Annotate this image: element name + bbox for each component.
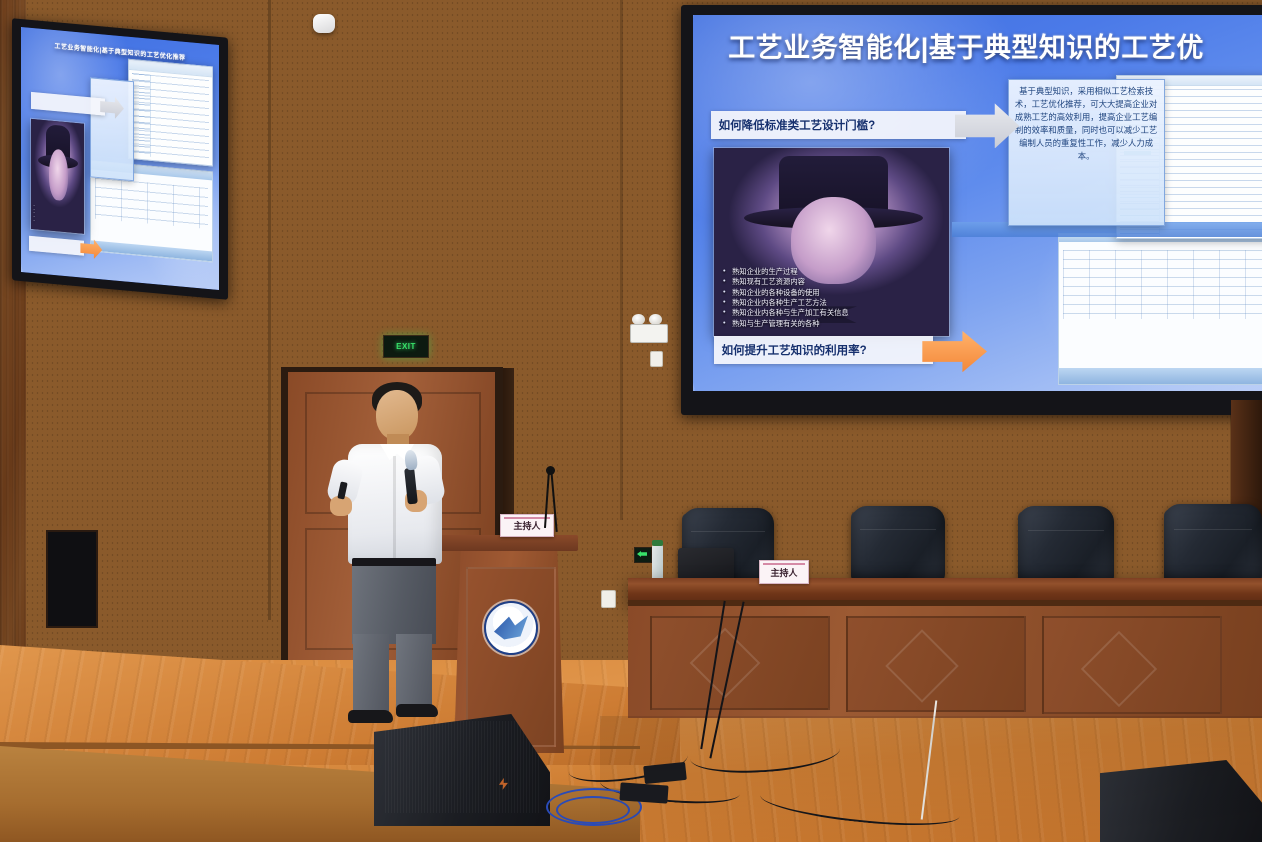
- presenter-shirt-placket: [393, 456, 396, 560]
- wall-outlet-upper: [650, 351, 663, 367]
- bullet-item: 熟知企业内各种生产工艺方法: [723, 298, 849, 308]
- speaker-grille: [385, 721, 540, 813]
- floor-shadow: [600, 716, 1262, 842]
- wall-seam-1: [268, 0, 271, 620]
- side-bullets: [34, 205, 44, 224]
- chair-crease: [860, 529, 935, 530]
- bottle-cap: [652, 540, 663, 546]
- nameplate-accent-line: [763, 563, 805, 565]
- institution-emblem-icon: [484, 601, 538, 655]
- bullet-item: 熟知企业的各种设备的使用: [723, 288, 849, 298]
- bullet-item: 熟知与生产管理有关的各种: [723, 319, 849, 329]
- presenter: [320, 382, 480, 722]
- presenter-head: [376, 390, 418, 440]
- main-slide: 工艺业务智能化|基于典型知识的工艺优 如何降低标准类工艺设计门槛? 熟知企业的生…: [693, 15, 1262, 391]
- laptop[interactable]: [678, 548, 734, 580]
- bullet-item: 熟知企业内各种与生产加工有关信息: [723, 308, 849, 318]
- exit-sign-label: EXIT: [396, 342, 416, 351]
- main-appshot-2: [1058, 233, 1262, 385]
- chair-2: [851, 506, 945, 584]
- main-display-screen[interactable]: 工艺业务智能化|基于典型知识的工艺优 如何降低标准类工艺设计门槛? 熟知企业的生…: [693, 15, 1262, 391]
- presenter-shoe-right: [396, 704, 438, 717]
- side-display-screen[interactable]: 工艺业务智能化|基于典型知识的工艺优化推荐: [21, 27, 219, 290]
- side-slide: 工艺业务智能化|基于典型知识的工艺优化推荐: [21, 27, 219, 290]
- chair-crease: [1028, 530, 1105, 531]
- presenter-shoe-left: [348, 710, 393, 723]
- side-portrait: [31, 119, 84, 234]
- chair-3: [1018, 506, 1114, 586]
- table-nameplate: 主持人: [759, 560, 809, 584]
- water-bottle: [652, 545, 663, 582]
- chair-crease: [691, 531, 765, 532]
- presenter-leg-left: [353, 634, 389, 716]
- chair-4: [1164, 504, 1262, 586]
- emergency-light-body: [630, 324, 668, 343]
- side-appshot-1: [128, 59, 213, 167]
- side-info-box: [90, 77, 134, 181]
- table-nameplate-label: 主持人: [770, 566, 797, 579]
- wall-vent-panel: [46, 530, 98, 628]
- smoke-detector-icon: [313, 14, 335, 33]
- emergency-light: [630, 314, 666, 342]
- chair-crease: [1174, 529, 1252, 530]
- chair-back: [1018, 506, 1114, 586]
- side-display-bezel: 工艺业务智能化|基于典型知识的工艺优化推荐: [12, 18, 228, 300]
- main-callout-bottom: 如何提升工艺知识的利用率?: [714, 336, 934, 364]
- main-portrait-photo: 熟知企业的生产过程 熟知现有工艺资源内容 熟知企业的各种设备的使用 熟知企业内各…: [714, 148, 949, 336]
- podium-nameplate-label: 主持人: [513, 519, 540, 532]
- auditorium-photo: 工艺业务智能化|基于典型知识的工艺优化推荐: [0, 0, 1262, 842]
- bullet-item: 熟知现有工艺资源内容: [723, 277, 849, 287]
- right-wall-gap: [1231, 400, 1262, 520]
- main-info-box: 基于典型知识，采用相似工艺检索技术，工艺优化推荐，可大大提高企业对成熟工艺的高效…: [1008, 79, 1165, 226]
- nameplate-accent-line: [504, 517, 550, 519]
- main-display-bezel: 工艺业务智能化|基于典型知识的工艺优 如何降低标准类工艺设计门槛? 熟知企业的生…: [681, 5, 1262, 415]
- side-callout-bottom: [29, 236, 84, 256]
- presenter-leg-right: [396, 634, 432, 712]
- exit-sign: EXIT: [383, 335, 429, 358]
- presenter-trousers: [352, 566, 436, 644]
- side-face: [49, 149, 68, 201]
- main-slide-title: 工艺业务智能化|基于典型知识的工艺优: [728, 26, 1262, 65]
- chair-back: [851, 506, 945, 584]
- main-callout-top: 如何降低标准类工艺设计门槛?: [711, 111, 966, 140]
- main-slide-bullets: 熟知企业的生产过程 熟知现有工艺资源内容 熟知企业的各种设备的使用 熟知企业内各…: [723, 267, 849, 329]
- wall-seam-2: [620, 0, 623, 520]
- bullet-item: 熟知企业的生产过程: [723, 267, 849, 277]
- side-slide-title: 工艺业务智能化|基于典型知识的工艺优化推荐: [29, 38, 211, 65]
- chair-back: [1164, 504, 1262, 586]
- wall-outlet-lower: [601, 590, 616, 608]
